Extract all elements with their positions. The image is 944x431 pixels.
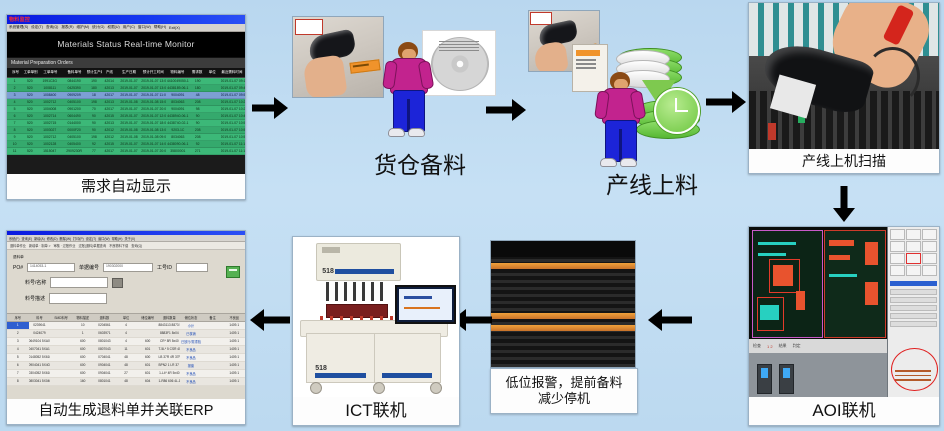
arrow-head [648, 309, 662, 331]
form-row[interactable]: 料号/名称 [13, 277, 239, 288]
red-highlight-ellipse [891, 348, 938, 391]
aoi-option-row[interactable] [890, 313, 937, 319]
table-cell: 198 [86, 99, 101, 105]
table-cell: 2019-01-07 09:48:14 [221, 85, 245, 91]
worker-with-green-stacked-discs-clipart [576, 44, 702, 168]
menu-item[interactable]: 帮助(H) [112, 236, 123, 241]
worker-shoe-right [408, 128, 425, 137]
table-cell: 8843113 8873 5x40 [158, 322, 180, 329]
table-cell: 2 [7, 330, 29, 337]
table-cell [205, 106, 220, 112]
table-cell: 4 [7, 99, 22, 105]
table-cell [205, 99, 220, 105]
table-cell: 0704041 [94, 354, 116, 361]
arrow-shaft [841, 186, 848, 209]
table-cell: 1002712 [38, 134, 62, 140]
menu-item[interactable]: 打印(P) [73, 236, 84, 241]
part-no-input[interactable] [50, 277, 108, 288]
pcb-trace [758, 253, 786, 256]
monitor-sub-banner: Material Preparation Orders [7, 57, 245, 68]
arrow-head [274, 97, 288, 119]
po-input[interactable]: 1414053-1 [27, 263, 75, 272]
keypad-key[interactable] [890, 253, 905, 264]
table-cell [137, 330, 159, 337]
table-cell [205, 148, 220, 154]
table-cell: 601 [137, 362, 159, 369]
table-cell: 35800001 [166, 148, 190, 154]
table-row[interactable]: 60904041 5X4034600090404148601BPN2 1 LR … [7, 362, 245, 370]
worker-with-disc-clipart [378, 24, 496, 142]
table-cell: 2019-01-08 13:00 [141, 127, 165, 133]
orders-table-body[interactable]: 15201991C3G0844190190420142019-01-072019… [7, 78, 245, 174]
table-row[interactable]: 204240791060397148883F1 8x04已核销1409.1 [7, 330, 245, 338]
table-cell: 1008400 [38, 92, 62, 98]
clock-icon [654, 88, 700, 134]
table-cell: 160 [72, 378, 94, 385]
menu-item[interactable]: 用户(C) [123, 25, 135, 30]
menu-item[interactable]: 新增(A) [34, 236, 45, 241]
keypad-key[interactable] [922, 265, 937, 276]
table-toolbar [491, 241, 635, 257]
table-row[interactable]: 1023904110020456148843113 8873 5x40小计140… [7, 322, 245, 330]
table-cell: 520 [22, 92, 37, 98]
table-cell: 42015 [102, 141, 117, 147]
col-header: 需求数 [190, 70, 205, 75]
table-cell: 1002128 [38, 141, 62, 147]
table-cell: 0807043 [94, 346, 116, 353]
menu-item[interactable]: 设定(T) [31, 25, 43, 30]
col-header: 预计开工时间 [141, 70, 165, 75]
pcb-trace [829, 274, 857, 277]
col-header: 备注 [202, 314, 224, 321]
table-cell: 2019-01-07 13:00 [141, 78, 165, 84]
table-cell: 520 [22, 141, 37, 147]
table-row[interactable]: 105201002128040540092420152019-01-072019… [7, 141, 245, 148]
aoi-status-text: 检查 [753, 343, 761, 349]
form-row[interactable]: PO# 1414053-1 单据编号 190302000 工号ID [13, 263, 239, 272]
table-cell: 42012 [102, 127, 117, 133]
table-cell: 2019-01-07 [117, 85, 141, 91]
menu-item[interactable]: 维护(M) [77, 25, 90, 30]
toolbar[interactable]: 退料单作业 新增单 · 制单 > 审核 · 过账作业 过账(退料)单据查询 不良… [7, 242, 245, 250]
pcb-component [829, 240, 853, 246]
table-cell: 520 [22, 148, 37, 154]
step-line-scan-card[interactable]: 产线上机扫描 [748, 2, 940, 174]
table-cell: 2019-01-07 11:00 [141, 92, 165, 98]
materials-monitor-screenshot: 物料监控 系统管理(S) 设定(T) 查询(Q) 报表(R) 维护(M) 统计(… [7, 15, 245, 174]
col-header: 储位状态 [180, 314, 202, 321]
table-cell: 0304052 5X6104 [29, 370, 51, 377]
table-row[interactable]: 65201002714060449090420152019-01-072019-… [7, 113, 245, 120]
table-cell: 48 [190, 92, 205, 98]
barcode-scan-on-label-photo [292, 16, 384, 98]
aoi-status-text: 结果 [779, 343, 787, 349]
table-cell [202, 362, 224, 369]
table-cell: 2019-01-07 13:00 [141, 85, 165, 91]
menu-item[interactable]: 权限(U) [108, 25, 120, 30]
table-cell: BPN2 1 LR 37 F11 304 5x40 [158, 362, 180, 369]
table-cell: 208 [190, 99, 205, 105]
keypad-key[interactable] [890, 229, 905, 240]
table-cell [50, 378, 72, 385]
aoi-option-row[interactable] [890, 305, 937, 311]
table-cell: 2019-01-07 18:00 [141, 120, 165, 126]
table-cell: 2019-01-08 [117, 134, 141, 140]
table-cell: 10 [7, 141, 22, 147]
form-row[interactable]: 料号描述 [13, 293, 239, 304]
keypad-key[interactable] [890, 265, 905, 276]
caption-low-stock-alert: 低位报警，提前备料 减少停机 [490, 368, 638, 414]
menu-item[interactable]: 系统管理(S) [9, 25, 28, 30]
table-cell: 600 [72, 354, 94, 361]
keypad-key-active[interactable] [906, 253, 921, 264]
table-row[interactable]: 70304052 5X61046000904041276011-L4* 4R 5… [7, 370, 245, 378]
table-cell: 42017 [102, 148, 117, 154]
worker-legs [605, 120, 637, 162]
table-cell: 520 [22, 113, 37, 119]
table-row[interactable]: 15201991C3G0844190190420142019-01-072019… [7, 78, 245, 85]
aoi-option-row[interactable] [890, 321, 937, 327]
aoi-keypad[interactable] [888, 227, 939, 278]
menu-item[interactable]: 修改(D) [47, 236, 58, 241]
table-cell: 208 [190, 127, 205, 133]
table-cell: 9203-1C [166, 127, 190, 133]
table-cell [202, 346, 224, 353]
hand [302, 54, 347, 98]
table-cell: 27 [115, 370, 137, 377]
table-cell: 2019-01-07 [117, 113, 141, 119]
dark-stock-table-with-orange-alert-rows [490, 240, 636, 368]
table-cell: 1-R86 606 4L-1 0V 7074 7143 007 5x40 [158, 378, 180, 385]
table-cell: 18 [86, 92, 101, 98]
table-cell: 1409.1 [223, 370, 245, 377]
worker-shoe-left [388, 128, 405, 137]
table-cell: 1515047 [38, 148, 62, 154]
table-cell: 6 [7, 113, 22, 119]
table-cell [202, 378, 224, 385]
menu-item[interactable]: 统计(G) [92, 25, 104, 30]
pcb-trace [758, 242, 795, 245]
table-cell: 4438740-02-1 [166, 120, 190, 126]
aoi-control-panel[interactable] [887, 227, 939, 397]
table-cell: 520 [22, 127, 37, 133]
keypad-key[interactable] [906, 229, 921, 240]
table-row[interactable]: 75201002715014400090420132019-01-072019-… [7, 120, 245, 127]
table-cell: 1008111 [38, 85, 62, 91]
table-cell [205, 113, 220, 119]
erp-return-order-screenshot: 系统(F) 查询(E) 新增(A) 修改(D) 删除(W) 打印(P) 设定(T… [7, 231, 245, 399]
cabinet-blue-stripe [315, 373, 365, 378]
menu-item[interactable]: 窗口(W) [138, 25, 151, 30]
table-cell [202, 370, 224, 377]
table-cell: 1409.1 [223, 322, 245, 329]
table-cell: 601 [137, 346, 159, 353]
col-header: 备料单号 [62, 70, 86, 75]
scanner-cable [865, 47, 920, 106]
menu-item[interactable]: 删除(W) [60, 236, 72, 241]
table-cell: 0405100 [62, 99, 86, 105]
table-cell: 0904041 [94, 362, 116, 369]
worker-figure [596, 72, 644, 167]
table-cell: 77 [86, 148, 101, 154]
table-cell: 1409.1 [223, 330, 245, 337]
table-cell: 10 [72, 322, 94, 329]
table-cell: 已放行/需重验 [180, 338, 202, 345]
table-cell: 2019-01-07 14:00 [141, 141, 165, 147]
table-cell: 2019-01-08 [117, 127, 141, 133]
feeder-indicator-red [768, 123, 776, 141]
table-cell: 2019-01-08 [117, 99, 141, 105]
toolbar-button[interactable]: 不良物料下载 [109, 243, 128, 248]
table-cell: 0000F20 [62, 127, 86, 133]
aoi-inspection-screen-photo: 检查 1 2 结果 判定 [749, 227, 939, 397]
export-excel-icon[interactable] [226, 266, 240, 278]
table-cell: 90 [190, 120, 205, 126]
caption-return-erp: 自动生成退料单并关联ERP [7, 399, 245, 424]
caption-demand-display: 需求自动显示 [7, 174, 245, 199]
arrow-shaft [706, 99, 733, 106]
col-header: SMD料号 [50, 314, 72, 321]
keypad-key[interactable] [922, 229, 937, 240]
table-row[interactable]: 252010081110425390180420132019-01-072019… [7, 85, 245, 92]
table-cell: 9004091 [166, 106, 190, 112]
table-cell [50, 370, 72, 377]
menu-item[interactable]: 查询(E) [21, 236, 32, 241]
col-header: 不良品 [223, 314, 245, 321]
caster-wheel [373, 382, 385, 394]
keypad-key[interactable] [922, 253, 937, 264]
ict-cabinet: 518 [306, 333, 441, 383]
table-cell: 2019-01-07 [117, 141, 141, 147]
table-cell: 0901200 [62, 106, 86, 112]
table-cell: 0148052 5X6104 [29, 354, 51, 361]
table-cell: 42017 [102, 106, 117, 112]
table-cell: 92 [190, 141, 205, 147]
table-cell: 5 [7, 354, 29, 361]
table-cell [50, 362, 72, 369]
machine-logo [322, 247, 340, 253]
table-cell: 不良品 [180, 346, 202, 353]
orders-table-header: 序号 工单单别 工单单号 备料单号 预计生产线 产线 生产日期 预计开工时间 物… [7, 68, 245, 78]
form-panel[interactable]: 退料单 PO# 1414053-1 单据编号 190302000 工号ID 料号… [7, 250, 245, 313]
toolbar-button[interactable]: 查询(Q) [131, 243, 142, 248]
table-cell: 520 [22, 106, 37, 112]
table-cell: 1991C3G [38, 78, 62, 84]
toolbar-button[interactable]: 审核 · 过账作业 [53, 243, 75, 248]
return-table-header: 序号 料号 SMD料号 物料描述 退料数 单位 储位编号 退料数量 储位状态 备… [7, 313, 245, 322]
table-cell: 2019-01-07 [117, 92, 141, 98]
table-cell [50, 322, 72, 329]
table-cell: 2019-01-07 10:45:04 [221, 113, 245, 119]
table-cell: 1002715 [38, 120, 62, 126]
table-cell: 0803041 5X0401 [29, 378, 51, 385]
table-cell: 8883F1 8x04 [158, 330, 180, 337]
table-cell: 1 [72, 330, 94, 337]
step-return-erp-card[interactable]: 系统(F) 查询(E) 新增(A) 修改(D) 删除(W) 打印(P) 设定(T… [6, 230, 246, 425]
table-cell: 0204561 [94, 322, 116, 329]
table-row[interactable]: 952010027120405100198420122019-01-082019… [7, 134, 245, 141]
table-cell: 1409.1 [223, 378, 245, 385]
menu-item[interactable]: 设定(T) [86, 236, 96, 241]
aoi-option-row[interactable] [890, 289, 937, 295]
step-ict-card[interactable]: 518 518 ICT联机 [292, 236, 460, 426]
table-cell: 1409.1 [223, 362, 245, 369]
table-cell: 1409.1 [223, 354, 245, 361]
table-row[interactable]: 50148052 5X6104600070404148600LB 37R 4R … [7, 354, 245, 362]
table-cell: 4438090-06-1 [166, 141, 190, 147]
menu-item[interactable]: Exit(X) [169, 26, 180, 30]
worker-id-input[interactable] [176, 263, 208, 272]
toolbar-button[interactable]: 过账(退料)单据查询 [78, 243, 106, 248]
table-cell: 0904041 [94, 370, 116, 377]
table-cell: 48 [115, 362, 137, 369]
col-header: 生产日期 [117, 70, 141, 75]
menu-item[interactable]: 系统(F) [9, 236, 19, 241]
table-cell: 4438189-06-1 [166, 85, 190, 91]
worker-figure [384, 42, 432, 137]
table-cell [205, 141, 220, 147]
aoi-image-panel: 检查 1 2 结果 判定 [749, 227, 887, 397]
menu-item[interactable]: 报表(R) [61, 25, 73, 30]
table-cell: 0904041 5X4034 [29, 362, 51, 369]
table-row[interactable]: 35201008400090920918420172019-01-072019-… [7, 92, 245, 99]
table-cell: 90 [190, 113, 205, 119]
table-cell: 271 [190, 148, 205, 154]
ict-monitor [395, 285, 455, 324]
table-cell [205, 127, 220, 133]
table-cell: 42014 [102, 78, 117, 84]
aoi-option-row[interactable] [890, 297, 937, 303]
caption-warehouse-prepare: 货仓备料 [330, 146, 510, 180]
table-row[interactable]: 852010030270000F2090420122019-01-082019-… [7, 127, 245, 134]
table-cell: 5 [7, 106, 22, 112]
low-stock-alert-row [491, 263, 635, 269]
table-cell: 2019-01-07 [117, 78, 141, 84]
keypad-key[interactable] [906, 265, 921, 276]
table-cell: 2019-01-07 20:00 [141, 148, 165, 154]
table-cell: 600 [137, 338, 159, 345]
cabinet-divider [374, 334, 375, 382]
col-header: 序号 [7, 314, 29, 321]
table-cell: 0909209 [62, 92, 86, 98]
table-row[interactable]: 80803041 5X04011600801041486041-R86 606 … [7, 378, 245, 386]
toolbar-button[interactable]: 新增单 · 制单 > [29, 243, 51, 248]
table-cell: 2019-01-07 09:56:06 [221, 92, 245, 98]
table-cell: 2019-01-07 10:29:18 [221, 106, 245, 112]
arrow-scan-to-aoi [832, 186, 856, 222]
caption-line-scan: 产线上机扫描 [749, 149, 939, 173]
keypad-key[interactable] [922, 241, 937, 252]
pcb-component [865, 242, 878, 265]
table-cell: 520 [22, 134, 37, 140]
table-cell: 601 [137, 370, 159, 377]
menu-bar[interactable]: 系统管理(S) 设定(T) 查询(Q) 报表(R) 维护(M) 统计(G) 权限… [7, 24, 245, 32]
lookup-button[interactable] [112, 278, 123, 288]
table-row[interactable]: 452010027120405100198420132019-01-082019… [7, 99, 245, 106]
table-cell: 92 [86, 141, 101, 147]
menu-item[interactable]: 帮助(H) [154, 25, 166, 30]
col-header: 预计生产线 [87, 70, 102, 75]
panel-tab-label: 退料单 [13, 255, 239, 260]
keypad-key[interactable] [906, 241, 921, 252]
monitor-banner-title: Materials Status Real-time Monitor [7, 32, 245, 57]
ict-press-head: 518 [316, 243, 401, 280]
table-cell: 不良品 [180, 378, 202, 385]
component-thumbnail [757, 364, 771, 394]
table-cell: 600 [72, 346, 94, 353]
step-demand-display-card[interactable]: 物料监控 系统管理(S) 设定(T) 查询(Q) 报表(R) 维护(M) 统计(… [6, 14, 246, 200]
menu-item[interactable]: 窗口(W) [98, 236, 110, 241]
table-cell [205, 134, 220, 140]
toolbar-button[interactable]: 退料单作业 [10, 243, 26, 248]
table-cell: 1002712 [38, 99, 62, 105]
menu-bar[interactable]: 系统(F) 查询(E) 新增(A) 修改(D) 删除(W) 打印(P) 设定(T… [7, 235, 245, 242]
menu-item[interactable]: 查询(Q) [46, 25, 58, 30]
table-cell: 6 [7, 362, 29, 369]
table-cell: 198 [86, 134, 101, 140]
component-thumbnail [779, 364, 793, 394]
arrow-line-to-scan [706, 90, 746, 114]
menu-item[interactable]: 关于(X) [124, 236, 135, 241]
field-label-doc-no: 单据编号 [79, 264, 99, 271]
table-cell: 8034063 [166, 134, 190, 140]
table-cell: 520 [22, 85, 37, 91]
table-cell: 2019-01-08 09:00 [141, 134, 165, 140]
table-cell: 0144000 [62, 120, 86, 126]
table-row[interactable]: 1152015150472909230R77420172019-01-07201… [7, 148, 245, 155]
aoi-selected-field[interactable] [890, 281, 937, 286]
table-cell: T-5L* 5 CSR 4071 5x40 [158, 346, 180, 353]
pcb-image-right [824, 230, 887, 338]
table-cell [50, 338, 72, 345]
arrow-head [833, 208, 855, 222]
table-cell: 0405100 [62, 134, 86, 140]
table-cell: 1-L4* 4R 5x40 [158, 370, 180, 377]
table-cell: LB 37R 4R 37F 0201 5x40 [158, 354, 180, 361]
field-label-po: PO# [13, 265, 23, 271]
table-row[interactable]: 55201004008090120070420172019-01-072019-… [7, 106, 245, 113]
keypad-key[interactable] [890, 241, 905, 252]
low-stock-alert-row [491, 313, 635, 319]
table-cell: 208 [190, 134, 205, 140]
table-cell: 1002714 [38, 113, 62, 119]
table-cell: 0801043 [94, 338, 116, 345]
table-cell: 600 [72, 362, 94, 369]
step-aoi-card[interactable]: 检查 1 2 结果 判定 [748, 226, 940, 426]
table-cell [205, 78, 220, 84]
table-cell: 42017 [102, 92, 117, 98]
field-label-part-no: 料号/名称 [25, 279, 46, 286]
arrow-aoi-to-lowstock [648, 308, 692, 332]
table-cell: 0239041 [29, 322, 51, 329]
table-row[interactable]: 30649104 5XA0760008010434600CR* 8R 5x40已… [7, 338, 245, 346]
window-title-text: 物料监控 [7, 16, 30, 23]
return-table-body[interactable]: 1023904110020456148843113 8873 5x40小计140… [7, 322, 245, 399]
col-header: 最近需料时间 [220, 70, 244, 75]
table-cell [50, 354, 72, 361]
arrow-head [512, 99, 526, 121]
part-desc-input[interactable] [49, 293, 107, 304]
table-cell: 2019-01-07 12:00 [141, 113, 165, 119]
table-cell: 9004091 [166, 92, 190, 98]
table-cell: 1409.1 [223, 338, 245, 345]
low-stock-alert-row [491, 325, 635, 331]
doc-no-input[interactable]: 190302000 [103, 263, 153, 272]
table-cell [202, 354, 224, 361]
table-row[interactable]: 40407041 5XA1 B600080704311601T-5L* 5 CS… [7, 346, 245, 354]
col-header: 单位 [205, 70, 220, 75]
table-cell: 2909230R [62, 148, 86, 154]
